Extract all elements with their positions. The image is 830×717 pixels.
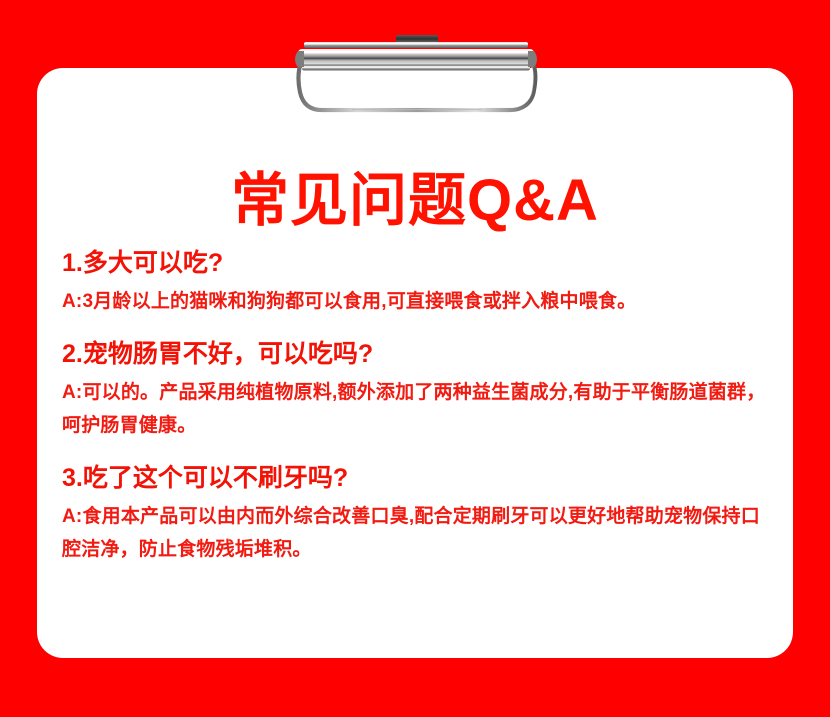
faq-list: 1.多大可以吃? A:3月龄以上的猫咪和狗狗都可以食用,可直接喂食或拌入粮中喂食… (62, 243, 774, 566)
faq-item: 2.宠物肠胃不好，可以吃吗? A:可以的。产品采用纯植物原料,额外添加了两种益生… (62, 334, 774, 442)
faq-question: 2.宠物肠胃不好，可以吃吗? (62, 334, 774, 374)
faq-answer: A:食用本产品可以由内而外综合改善口臭,配合定期刷牙可以更好地帮助宠物保持口腔洁… (62, 500, 774, 566)
faq-page: 常见问题Q&A 1.多大可以吃? A:3月龄以上的猫咪和狗狗都可以食用,可直接喂… (0, 0, 830, 717)
faq-answer: A:可以的。产品采用纯植物原料,额外添加了两种益生菌成分,有助于平衡肠道菌群，呵… (62, 376, 774, 442)
page-title: 常见问题Q&A (0, 169, 830, 233)
faq-item: 3.吃了这个可以不刷牙吗? A:食用本产品可以由内而外综合改善口臭,配合定期刷牙… (62, 458, 774, 566)
faq-item: 1.多大可以吃? A:3月龄以上的猫咪和狗狗都可以食用,可直接喂食或拌入粮中喂食… (62, 243, 774, 318)
faq-question: 1.多大可以吃? (62, 243, 774, 283)
faq-question: 3.吃了这个可以不刷牙吗? (62, 458, 774, 498)
faq-answer: A:3月龄以上的猫咪和狗狗都可以食用,可直接喂食或拌入粮中喂食。 (62, 285, 774, 318)
